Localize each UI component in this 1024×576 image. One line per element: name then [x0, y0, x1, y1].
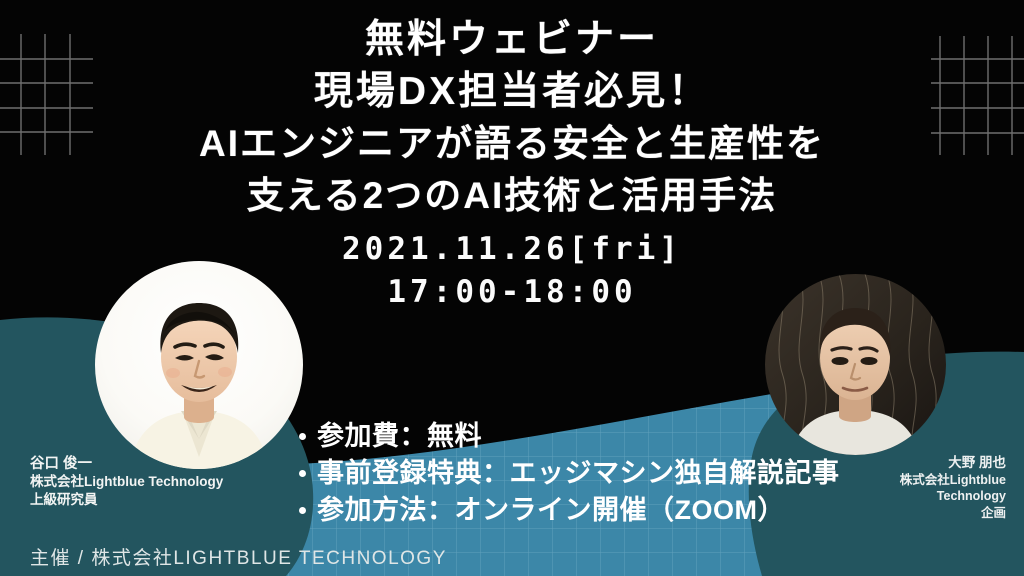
speaker-right-name: 大野 朋也	[900, 455, 1006, 472]
event-date: 2021.11.26[fri]	[0, 228, 1024, 271]
footer-host-text: 主催 / 株式会社LIGHTBLUE TECHNOLOGY	[30, 543, 447, 570]
bullet-text: 参加方法：オンライン開催（ZOOM）	[317, 492, 785, 529]
title-line-2: 現場DX担当者必見！	[0, 66, 1024, 118]
speaker-left-role: 上級研究員	[30, 491, 223, 509]
title-line-1: 無料ウェビナー	[0, 14, 1024, 66]
speaker-right-caption: 大野 朋也 株式会社Lightblue Technology 企画	[900, 455, 1006, 521]
bullet-text: 参加費：無料	[317, 418, 482, 455]
speaker-left-company: 株式会社Lightblue Technology	[30, 473, 223, 491]
bullet-dot-icon	[299, 433, 306, 440]
list-item: 参加方法：オンライン開催（ZOOM）	[299, 492, 840, 529]
details-bullet-list: 参加費：無料 事前登録特典：エッジマシン独自解説記事 参加方法：オンライン開催（…	[299, 418, 840, 529]
bullet-dot-icon	[299, 470, 306, 477]
list-item: 事前登録特典：エッジマシン独自解説記事	[299, 455, 840, 492]
title-line-4: 支える2つのAI技術と活用手法	[0, 170, 1024, 222]
list-item: 参加費：無料	[299, 418, 840, 455]
schedule-block: 2021.11.26[fri] 17:00-18:00	[0, 228, 1024, 314]
speaker-left-name: 谷口 俊一	[30, 455, 223, 473]
title-line-3: AIエンジニアが語る安全と生産性を	[0, 118, 1024, 170]
speaker-right-role: 企画	[900, 505, 1006, 522]
page-title: 無料ウェビナー 現場DX担当者必見！ AIエンジニアが語る安全と生産性を 支える…	[0, 14, 1024, 222]
speaker-right-company-line2: Technology	[900, 488, 1006, 505]
bullet-text: 事前登録特典：エッジマシン独自解説記事	[317, 455, 840, 492]
event-time: 17:00-18:00	[0, 271, 1024, 314]
bullet-dot-icon	[299, 507, 306, 514]
speaker-right-company-line1: 株式会社Lightblue	[900, 472, 1006, 489]
speaker-left-caption: 谷口 俊一 株式会社Lightblue Technology 上級研究員	[30, 455, 223, 509]
webinar-banner: 無料ウェビナー 現場DX担当者必見！ AIエンジニアが語る安全と生産性を 支える…	[0, 0, 1024, 576]
